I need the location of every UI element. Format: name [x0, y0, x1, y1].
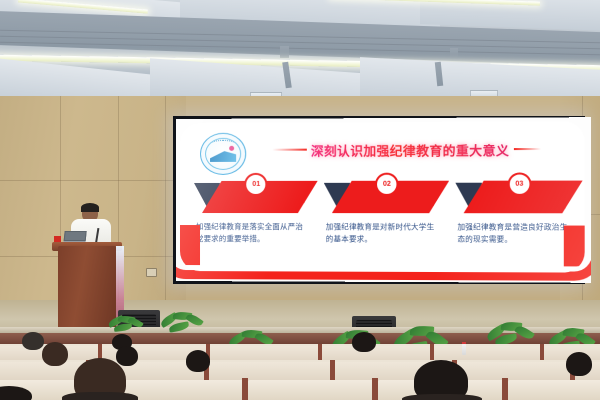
slide-title-row: 深刻认识加强纪律教育的重大意义 — [272, 138, 576, 161]
led-screen[interactable]: 深刻认识加强纪律教育的重大意义 01 加强纪律教育是落实全面从严治党要求的重要举… — [176, 117, 591, 283]
slide-card: 01 加强纪律教育是落实全面从严治党要求的重要举措。 — [194, 171, 310, 264]
slide-card: 03 加强纪律教育是营造良好政治生态的现实需要。 — [455, 170, 574, 264]
audience-seating — [0, 330, 600, 400]
slide-corner-left — [180, 225, 200, 265]
audience-head — [42, 342, 68, 366]
audience-shoulders — [62, 392, 138, 400]
slide-title: 深刻认识加强纪律教育的重大意义 — [311, 139, 509, 159]
card-text: 加强纪律教育是营造良好政治生态的现实需要。 — [457, 221, 574, 246]
audience-desk[interactable] — [508, 380, 600, 400]
card-badge: 02 — [375, 173, 399, 196]
slide-corner-right — [564, 226, 585, 267]
title-rule-left — [272, 149, 306, 151]
card-text: 加强纪律教育是对新时代大学生的基本要求。 — [326, 221, 441, 246]
ceiling — [0, 0, 600, 104]
audience-desk[interactable] — [248, 380, 374, 400]
wall-outlet — [146, 268, 157, 277]
audience-head — [22, 332, 44, 350]
slide-card-list: 01 加强纪律教育是落实全面从严治党要求的重要举措。 02 加强纪律教育是对新时… — [194, 170, 574, 264]
audience-head — [116, 346, 138, 366]
presentation-slide: 深刻认识加强纪律教育的重大意义 01 加强纪律教育是落实全面从严治党要求的重要举… — [176, 117, 591, 283]
audience-head — [566, 352, 592, 376]
university-emblem-icon — [200, 133, 246, 175]
card-text: 加强纪律教育是落实全面从严治党要求的重要举措。 — [196, 221, 309, 246]
audience-head — [186, 350, 210, 372]
audience-shoulders — [402, 394, 482, 400]
lecture-hall-photo: 深刻认识加强纪律教育的重大意义 01 加强纪律教育是落实全面从严治党要求的重要举… — [0, 0, 600, 400]
card-badge: 03 — [507, 172, 531, 195]
speaker-hair — [81, 203, 99, 212]
title-rule-right — [513, 148, 540, 150]
audience-head — [352, 332, 376, 352]
water-bottle — [462, 344, 466, 355]
slide-card: 02 加强纪律教育是对新时代大学生的基本要求。 — [324, 171, 441, 264]
slide-content-area: 深刻认识加强纪律教育的重大意义 01 加强纪律教育是落实全面从严治党要求的重要举… — [180, 121, 585, 272]
